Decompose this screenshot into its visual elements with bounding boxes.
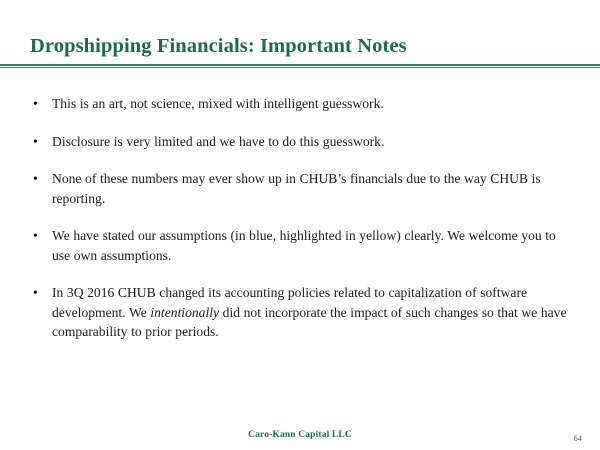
title-divider-rule — [0, 64, 600, 69]
list-item: • None of these numbers may ever show up… — [30, 169, 570, 208]
bullet-point-icon: • — [30, 226, 52, 246]
list-item-text: This is an art, not science, mixed with … — [52, 94, 570, 114]
list-item: • This is an art, not science, mixed wit… — [30, 94, 570, 114]
list-item: • In 3Q 2016 CHUB changed its accounting… — [30, 283, 570, 342]
bullet-point-icon: • — [30, 132, 52, 152]
bullet-point-icon: • — [30, 169, 52, 189]
page-title: Dropshipping Financials: Important Notes — [0, 33, 600, 59]
slide-title-block: Dropshipping Financials: Important Notes — [0, 33, 600, 59]
list-item-text: In 3Q 2016 CHUB changed its accounting p… — [52, 283, 570, 342]
divider-line-thin — [0, 67, 600, 68]
slide-footer: Caro-Kann Capital LLC 64 — [0, 430, 600, 446]
list-item-text: Disclosure is very limited and we have t… — [52, 132, 570, 152]
bullet-point-icon: • — [30, 283, 52, 303]
presentation-slide: Dropshipping Financials: Important Notes… — [0, 0, 600, 450]
list-item: • We have stated our assumptions (in blu… — [30, 226, 570, 265]
list-item-text: None of these numbers may ever show up i… — [52, 169, 570, 208]
list-item-text: We have stated our assumptions (in blue,… — [52, 226, 570, 265]
bullet-point-icon: • — [30, 94, 52, 114]
list-item: • Disclosure is very limited and we have… — [30, 132, 570, 152]
footer-company-name: Caro-Kann Capital LLC — [0, 430, 600, 440]
page-number: 64 — [574, 433, 583, 443]
bullet-list: • This is an art, not science, mixed wit… — [30, 94, 570, 342]
list-item-emphasis: intentionally — [150, 305, 219, 320]
